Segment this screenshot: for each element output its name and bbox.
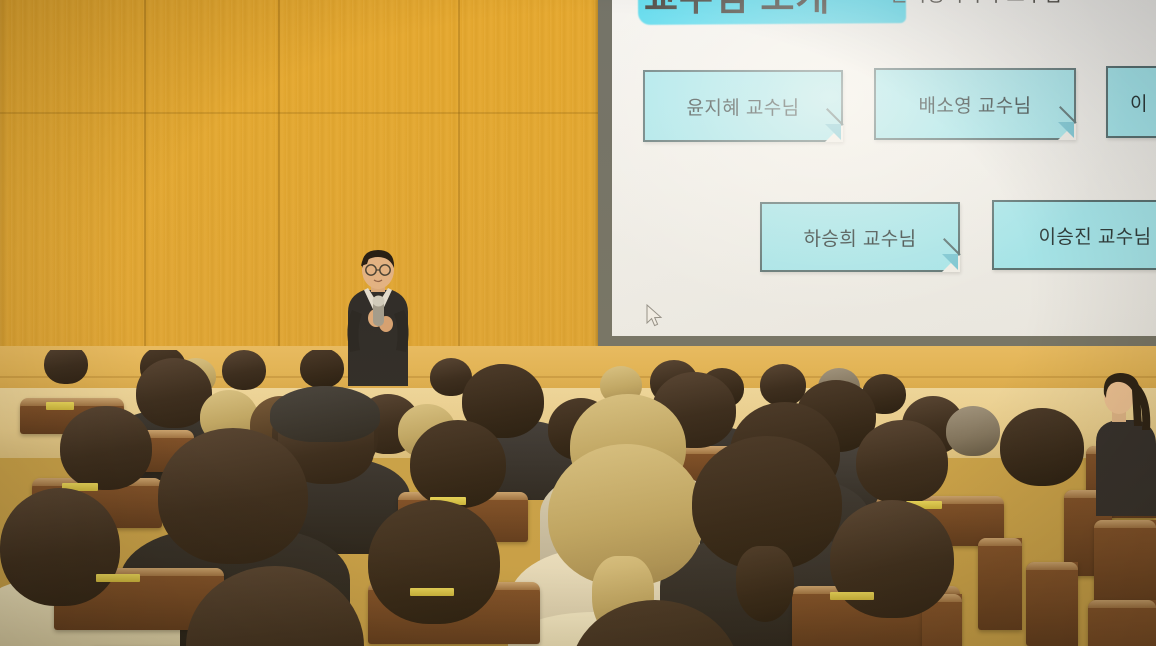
professor-card[interactable]: 윤지혜 교수님 (643, 70, 843, 142)
ponytail (736, 546, 794, 622)
seat[interactable] (1026, 562, 1078, 646)
seat-number-plate (410, 588, 454, 596)
slide-subtitle: 언어병리학과 교수님 (889, 0, 1062, 7)
wood-wall-panel (0, 0, 600, 352)
screen-glare (612, 0, 1156, 336)
seat[interactable] (978, 538, 1022, 630)
folded-corner-fill-icon (1058, 122, 1074, 138)
audience-head (856, 420, 948, 504)
seat-number-plate (96, 574, 140, 582)
audience-head (410, 420, 506, 508)
lecture-hall-scene: 교수님 소개 언어병리학과 교수님 윤지혜 교수님 배소영 교수님 이 (0, 0, 1156, 646)
baseball-cap (270, 386, 380, 442)
audience-head (60, 406, 152, 490)
professor-card-clipped[interactable]: 이 (1106, 66, 1156, 138)
folded-corner-fill-icon (942, 254, 958, 270)
professor-card[interactable]: 하승희 교수님 (760, 202, 960, 272)
seat-number-plate (46, 402, 74, 410)
audience-head (0, 488, 120, 606)
audience-area (0, 350, 1156, 646)
audience-head (158, 428, 308, 564)
professor-name: 이 (1130, 89, 1148, 116)
audience-head (222, 350, 266, 390)
audience-head (946, 406, 1000, 456)
side-attendee (1086, 368, 1156, 523)
slide-title-group: 교수님 소개 (644, 0, 830, 26)
projection-screen-frame: 교수님 소개 언어병리학과 교수님 윤지혜 교수님 배소영 교수님 이 (598, 0, 1156, 346)
folded-corner-fill-icon (825, 124, 841, 140)
seat[interactable] (1088, 600, 1156, 646)
projection-screen[interactable]: 교수님 소개 언어병리학과 교수님 윤지혜 교수님 배소영 교수님 이 (612, 0, 1156, 336)
professor-name: 윤지혜 교수님 (687, 93, 800, 120)
audience-head (44, 350, 88, 384)
audience-head (1000, 408, 1084, 486)
professor-card[interactable]: 이승진 교수님 (992, 200, 1156, 270)
professor-card[interactable]: 배소영 교수님 (874, 68, 1076, 140)
presenter (330, 248, 426, 388)
professor-name: 이승진 교수님 (1039, 222, 1152, 249)
audience-head (368, 500, 500, 624)
professor-name: 하승희 교수님 (804, 224, 917, 251)
slide-title: 교수님 소개 (644, 0, 830, 26)
professor-name: 배소영 교수님 (919, 91, 1032, 118)
audience-head (830, 500, 954, 618)
mouse-cursor-arrow-icon (646, 304, 664, 330)
seat-number-plate (830, 592, 874, 600)
